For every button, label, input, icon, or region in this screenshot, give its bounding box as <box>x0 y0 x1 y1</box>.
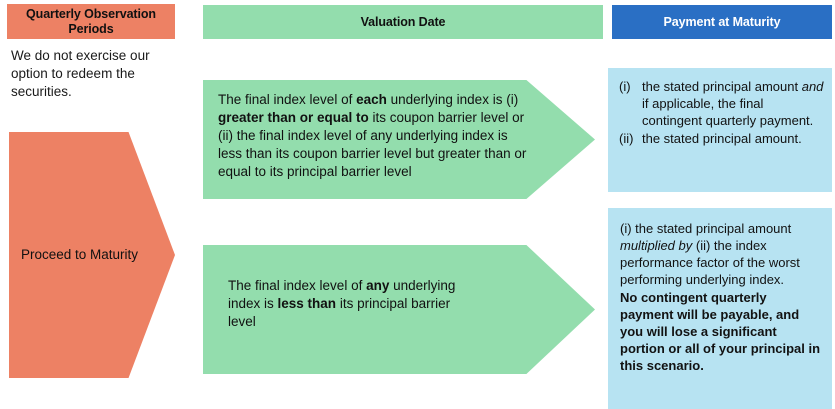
list-item-text: the stated principal amount and if appli… <box>642 78 824 129</box>
list-item-text: the stated principal amount. <box>642 130 824 147</box>
valuation-condition-1-text: The final index level of each underlying… <box>218 91 534 181</box>
payment-outcome-2-box: (i) the stated principal amount multipli… <box>608 208 832 409</box>
observation-note-text: We do not exercise our option to redeem … <box>11 47 176 100</box>
header-quarterly-observation-periods: Quarterly Observation Periods <box>7 4 175 39</box>
payment-outcome-1-list: (i) the stated principal amount and if a… <box>616 78 824 148</box>
list-item: (i) the stated principal amount and if a… <box>616 78 824 129</box>
payment-outcome-2-paragraph-2: No contingent quarterly payment will be … <box>620 289 822 375</box>
list-marker: (ii) <box>616 130 642 147</box>
flowchart-canvas: Quarterly Observation Periods Valuation … <box>0 0 835 409</box>
header-valuation-date: Valuation Date <box>203 5 603 39</box>
valuation-condition-2-text: The final index level of any underlying … <box>228 277 478 331</box>
valuation-condition-2-arrow: The final index level of any underlying … <box>203 245 595 374</box>
list-item: (ii) the stated principal amount. <box>616 130 824 147</box>
proceed-to-maturity-arrow: Proceed to Maturity <box>9 132 175 378</box>
payment-outcome-2-paragraph-1: (i) the stated principal amount multipli… <box>620 220 822 289</box>
payment-outcome-1-box: (i) the stated principal amount and if a… <box>608 68 832 192</box>
valuation-condition-1-arrow: The final index level of each underlying… <box>203 80 595 199</box>
proceed-to-maturity-label: Proceed to Maturity <box>9 246 138 264</box>
header-payment-at-maturity: Payment at Maturity <box>612 5 832 39</box>
list-marker: (i) <box>616 78 642 129</box>
